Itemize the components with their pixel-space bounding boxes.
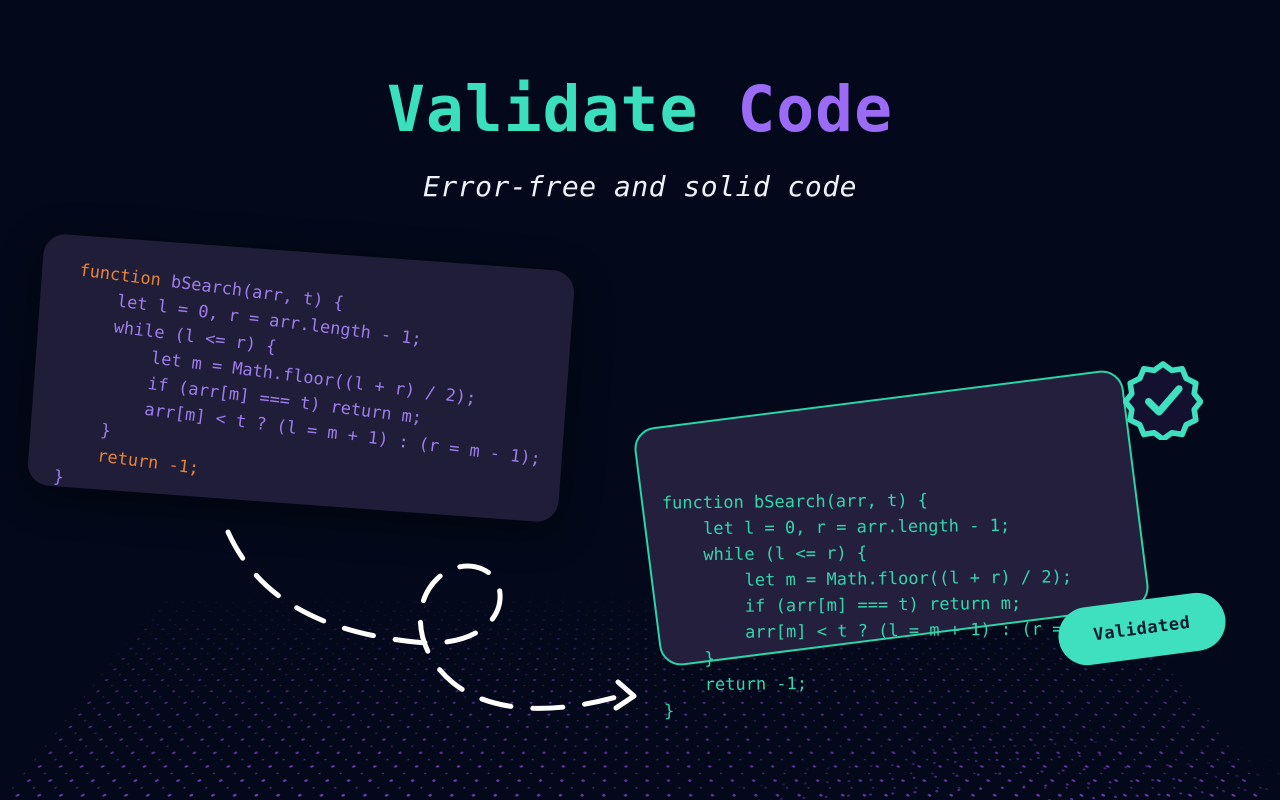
validated-code-block: function bSearch(arr, t) { let l = 0, r … [662, 486, 1145, 725]
page-title-space [698, 73, 737, 146]
unvalidated-code-card: function bSearch(arr, t) { let l = 0, r … [26, 233, 575, 523]
code-keyword-function: function [78, 261, 162, 291]
poster-canvas: Validate Code Error-free and solid code … [0, 0, 1280, 800]
dashed-curved-arrow-icon [200, 520, 670, 730]
unvalidated-code-block: function bSearch(arr, t) { let l = 0, r … [52, 258, 559, 550]
code-line-9: } [52, 467, 65, 488]
page-subtitle: Error-free and solid code [0, 170, 1280, 203]
page-title-word-code: Code [737, 73, 893, 146]
page-title-word-validate: Validate [387, 73, 698, 146]
code-keyword-return: return [56, 441, 160, 474]
verified-check-badge-icon [1123, 360, 1203, 440]
page-title: Validate Code [0, 78, 1280, 141]
code-line-8: -1; [157, 454, 200, 479]
code-line-7: } [59, 415, 112, 441]
status-badge-label: Validated [1092, 613, 1191, 646]
